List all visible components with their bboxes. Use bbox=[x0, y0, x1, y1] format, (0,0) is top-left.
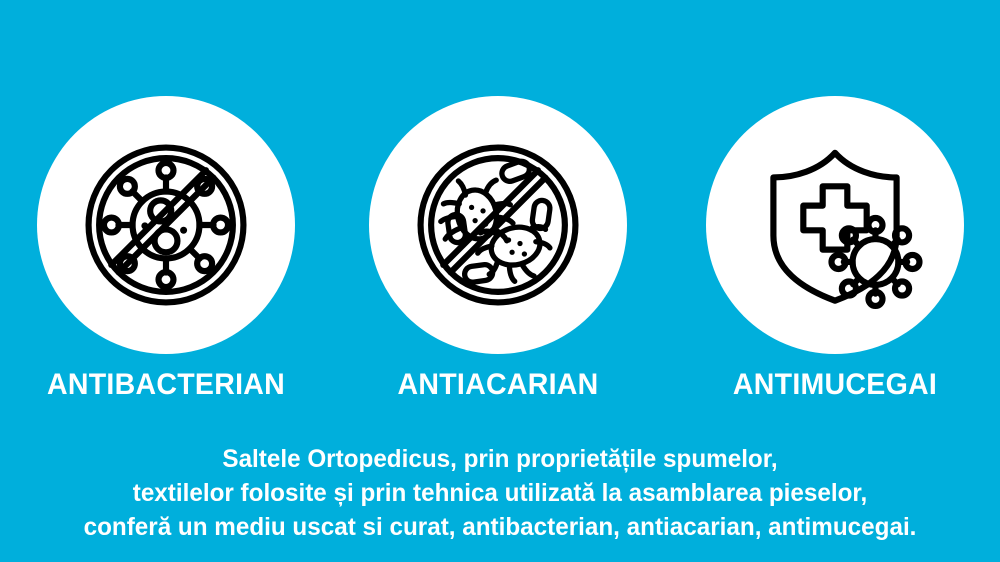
caption-line-3: conferă un mediu uscat si curat, antibac… bbox=[15, 510, 985, 544]
caption-line-2: textilelor folosite și prin tehnica util… bbox=[15, 476, 985, 510]
feature-antibacterian: ANTIBACTERIAN bbox=[36, 96, 296, 354]
no-bacteria-icon bbox=[78, 137, 254, 313]
badge-circle-antibacterian bbox=[37, 96, 295, 354]
promo-banner: ANTIBACTERIAN bbox=[0, 0, 1000, 562]
badge-circle-antimucegai bbox=[706, 96, 964, 354]
feature-label-antiacarian: ANTIACARIAN bbox=[375, 368, 622, 402]
caption-block: Saltele Ortopedicus, prin proprietățile … bbox=[0, 442, 1000, 544]
feature-row: ANTIBACTERIAN bbox=[0, 0, 1000, 430]
badge-circle-antiacarian bbox=[369, 96, 627, 354]
no-dust-mite-icon bbox=[410, 137, 586, 313]
shield-cross-virus-icon bbox=[747, 137, 923, 313]
feature-label-antibacterian: ANTIBACTERIAN bbox=[43, 368, 290, 402]
feature-antiacarian: ANTIACARIAN bbox=[368, 96, 628, 354]
feature-label-antimucegai: ANTIMUCEGAI bbox=[712, 368, 959, 402]
feature-antimucegai: ANTIMUCEGAI bbox=[705, 96, 965, 354]
caption-line-1: Saltele Ortopedicus, prin proprietățile … bbox=[15, 442, 985, 476]
